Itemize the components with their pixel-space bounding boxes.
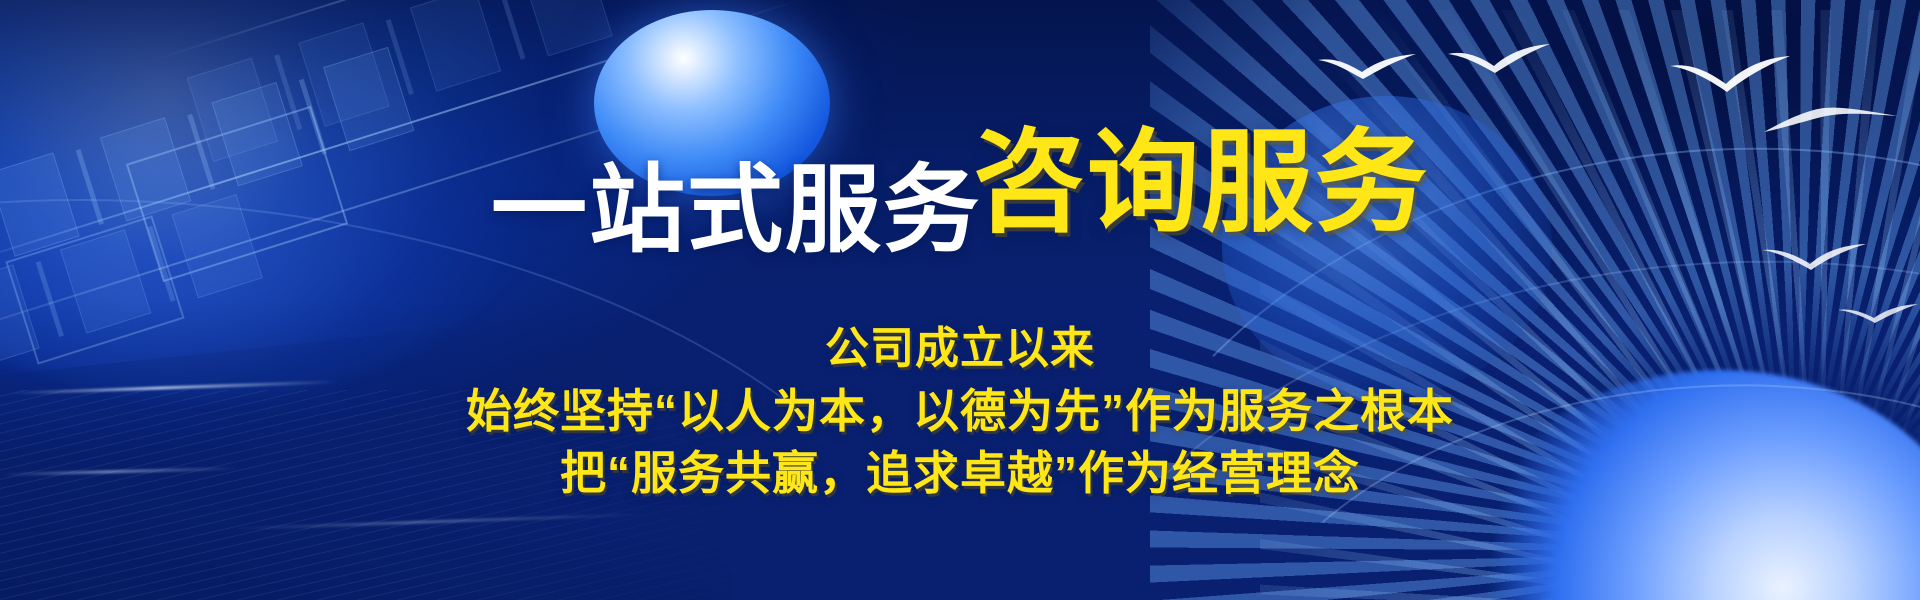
subtitle-block: 公司成立以来 始终坚持“以人为本，以德为先”作为服务之根本 把“服务共赢，追求卓… <box>0 318 1920 504</box>
seagull-icon <box>1316 48 1420 84</box>
headline-accent: 咨询服务 <box>973 92 1429 254</box>
seagull-icon <box>1446 40 1554 76</box>
subtitle-line-1: 公司成立以来 <box>0 318 1920 380</box>
subtitle-line-2: 始终坚持“以人为本，以德为先”作为服务之根本 <box>0 380 1920 442</box>
seagull-icon <box>1668 52 1792 94</box>
film-cell <box>410 0 501 92</box>
film-cell <box>522 0 613 56</box>
film-tick <box>497 0 525 60</box>
headline: 一站式服务 咨询服务 <box>0 92 1920 254</box>
promotional-banner: 一站式服务 咨询服务 公司成立以来 始终坚持“以人为本，以德为先”作为服务之根本… <box>0 0 1920 600</box>
subtitle-line-3: 把“服务共赢，追求卓越”作为经营理念 <box>0 442 1920 504</box>
headline-primary: 一站式服务 <box>491 132 981 271</box>
